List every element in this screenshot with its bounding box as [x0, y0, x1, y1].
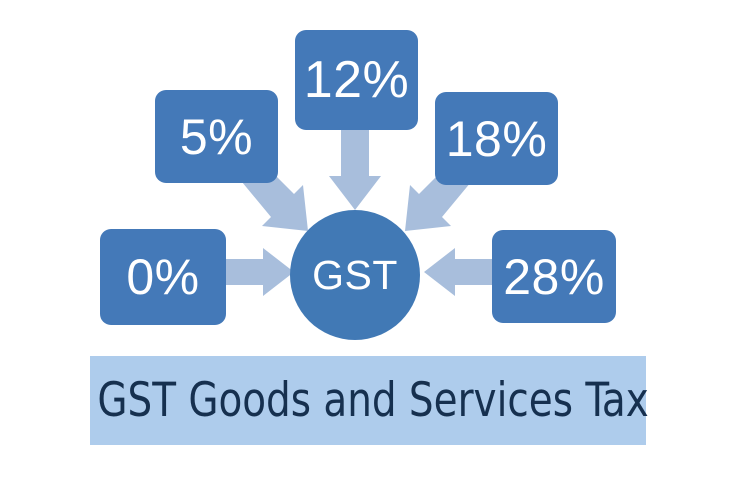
rate-box-18-percent[interactable]: 18% — [435, 92, 558, 185]
caption-text: GST Goods and Services Tax — [90, 373, 649, 428]
rate-box-label: 0% — [126, 248, 199, 306]
rate-box-label: 5% — [180, 108, 253, 166]
arrow-12-to-gst — [329, 130, 381, 210]
arrow-28-to-gst — [424, 248, 492, 296]
rate-box-label: 12% — [304, 50, 410, 110]
rate-box-0-percent[interactable]: 0% — [100, 229, 226, 325]
gst-diagram-canvas: 5% 12% 18% 0% 28% GST GST Goods and Serv… — [0, 0, 753, 495]
caption-banner: GST Goods and Services Tax — [90, 356, 646, 445]
rate-box-5-percent[interactable]: 5% — [155, 90, 278, 183]
gst-center-label: GST — [312, 252, 398, 299]
gst-center-node[interactable]: GST — [290, 210, 420, 340]
rate-box-label: 18% — [446, 110, 548, 168]
rate-box-12-percent[interactable]: 12% — [295, 30, 418, 130]
rate-box-label: 28% — [503, 248, 605, 306]
arrow-0-to-gst — [226, 248, 294, 296]
rate-box-28-percent[interactable]: 28% — [492, 230, 616, 323]
